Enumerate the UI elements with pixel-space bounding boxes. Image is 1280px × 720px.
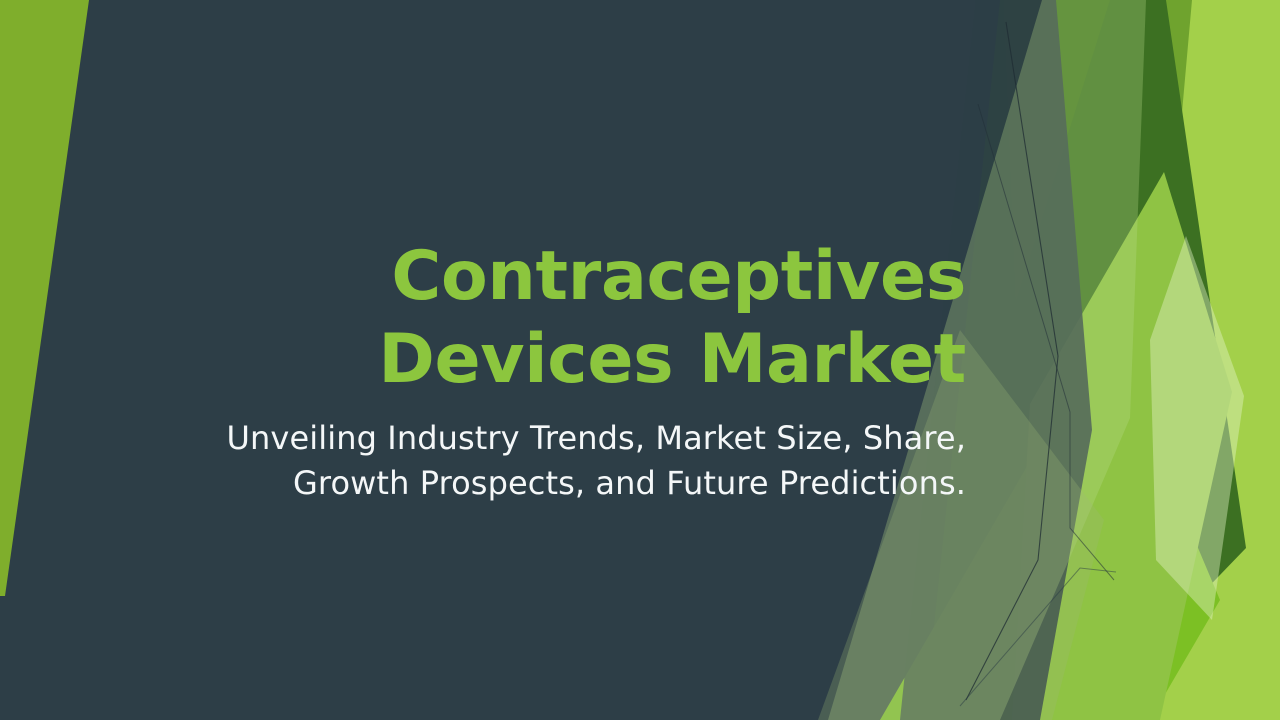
left-green-wedge: [0, 0, 89, 596]
facet-shape-dark-green: [924, 0, 1246, 720]
slide-title[interactable]: Contraceptives Devices Market: [160, 236, 966, 402]
facet-shape-pale-lime: [1048, 0, 1280, 720]
facet-hairline-inner: [978, 104, 1114, 580]
slide-subtitle[interactable]: Unveiling Industry Trends, Market Size, …: [160, 416, 966, 507]
facet-hairline-left: [966, 22, 1058, 700]
slide-subtitle-line-1: Unveiling Industry Trends, Market Size, …: [160, 416, 966, 461]
facet-shape-pale-highlight: [1150, 236, 1244, 620]
facet-shape-mid-green: [940, 0, 1192, 720]
slide-subtitle-line-2: Growth Prospects, and Future Predictions…: [160, 461, 966, 506]
title-text-block: Contraceptives Devices Market Unveiling …: [160, 236, 966, 507]
facet-hairline-bottom: [960, 568, 1116, 706]
facet-shape-light-green-mid: [1012, 172, 1232, 720]
facet-shape-bright-lime: [1120, 0, 1280, 720]
facet-shape-dark-green-upper: [1004, 0, 1110, 300]
presentation-slide: Contraceptives Devices Market Unveiling …: [0, 0, 1280, 720]
